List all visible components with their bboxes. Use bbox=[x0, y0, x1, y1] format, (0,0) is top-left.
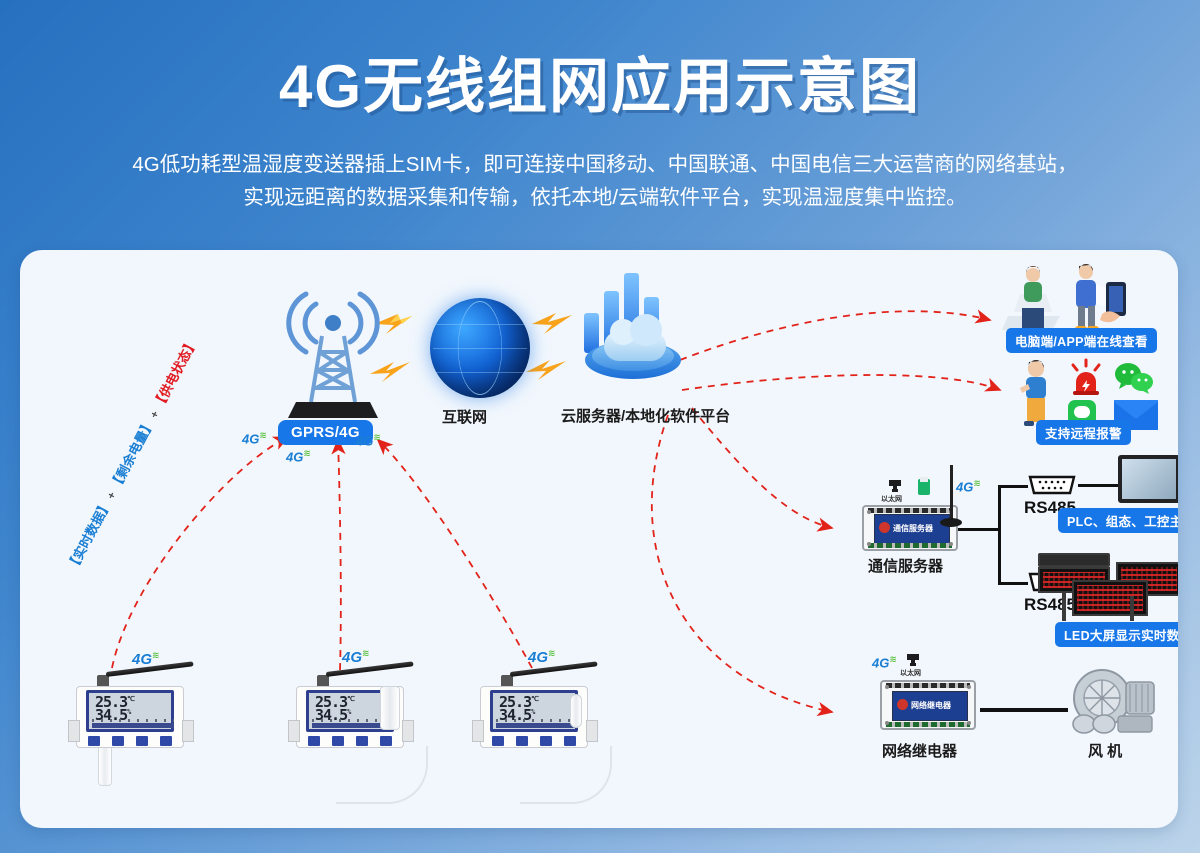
mount-wing-right-1 bbox=[182, 720, 194, 742]
ethernet-port-icon-relay bbox=[904, 652, 922, 668]
badge-led-screen[interactable]: LED大屏显示实时数据 bbox=[1055, 622, 1178, 647]
sensor-lcd-1: 25.3℃ 34.5% bbox=[86, 690, 174, 732]
bus-line-to-rs485-bottom bbox=[998, 582, 1028, 585]
radio-tag-4g-relay: 4G≋ bbox=[872, 654, 896, 670]
radio-tag-4g-tower-mid: 4G≋ bbox=[286, 448, 310, 464]
comm-server-label: 通信服务器 bbox=[868, 555, 943, 576]
network-relay-device[interactable]: 网络继电器 bbox=[880, 680, 976, 730]
ethernet-label-relay: 以太网 bbox=[900, 668, 921, 678]
mount-wing-left-1 bbox=[68, 720, 80, 742]
badge-remote-alarm[interactable]: 支持远程报警 bbox=[1036, 420, 1131, 445]
diagram-stage: GPRS/4G 4G≋ 4G≋ 4G≋ 互联网 云服务器/本地化软件平台 bbox=[20, 250, 1178, 828]
sim-card-icon-comm bbox=[916, 476, 932, 496]
led-post-right bbox=[1130, 596, 1134, 621]
radio-tag-4g-comm: 4G≋ bbox=[956, 478, 980, 494]
relay-terminal-top bbox=[886, 683, 970, 688]
annot-part-1: 【实时数据】 bbox=[64, 498, 114, 574]
antenna-mast-comm bbox=[950, 465, 953, 521]
radio-tag-4g-tower-left: 4G≋ bbox=[242, 430, 266, 446]
rs485-connector-top-icon bbox=[1026, 474, 1078, 496]
data-payload-annotation: 【实时数据】 + 【剩余电量】 + 【供电状态】 bbox=[62, 334, 202, 574]
internet-label: 互联网 bbox=[442, 406, 487, 427]
fan-label: 风 机 bbox=[1088, 740, 1122, 761]
relay-screen-title: 网络继电器 bbox=[911, 700, 951, 711]
alarm-lamp-icon bbox=[1068, 358, 1104, 396]
comm-server-device[interactable]: 通信服务器 bbox=[862, 505, 958, 551]
subtitle-line-1: 4G低功耗型温湿度变送器插上SIM卡，即可连接中国移动、中国联通、中国电信三大运… bbox=[50, 148, 1160, 181]
sensor-external-probe-3 bbox=[570, 694, 582, 728]
sensor-probe-1 bbox=[98, 748, 112, 786]
network-relay-label: 网络继电器 bbox=[882, 740, 957, 761]
globe-icon bbox=[430, 298, 530, 398]
radio-tag-4g-sensor-2: 4G≋ bbox=[342, 648, 369, 666]
screen-logo-icon bbox=[879, 522, 890, 533]
sensor-lcd-3: 25.3℃ 34.5% bbox=[490, 690, 578, 732]
mount-wing-right-2 bbox=[402, 720, 414, 742]
ethernet-label-comm: 以太网 bbox=[881, 494, 902, 504]
radio-tag-4g-sensor-3: 4G≋ bbox=[528, 648, 555, 666]
cloud-server-label: 云服务器/本地化软件平台 bbox=[561, 405, 730, 426]
bus-line-to-rs485-top bbox=[998, 485, 1028, 488]
annot-plus-2: + bbox=[148, 409, 162, 420]
blower-fan-icon bbox=[1068, 668, 1160, 738]
bus-line-out bbox=[958, 528, 1000, 531]
relay-terminal-bottom bbox=[886, 722, 970, 727]
page-title: 4G无线组网应用示意图 bbox=[0, 38, 1200, 125]
sensor-cable-3 bbox=[520, 746, 612, 804]
screen-title: 通信服务器 bbox=[893, 523, 933, 534]
led-display-roof bbox=[1038, 553, 1110, 567]
terminal-strip-bottom bbox=[868, 543, 952, 548]
cloud-server-icon bbox=[560, 275, 690, 405]
badge-plc[interactable]: PLC、组态、工控主机 bbox=[1058, 508, 1178, 533]
diagram-panel: GPRS/4G 4G≋ 4G≋ 4G≋ 互联网 云服务器/本地化软件平台 bbox=[20, 250, 1178, 828]
bus-line-vertical bbox=[998, 485, 1001, 585]
ethernet-port-icon-comm bbox=[886, 478, 904, 494]
annot-part-3: 【供电状态】 bbox=[150, 336, 200, 412]
subtitle-line-2: 实现远距离的数据采集和传输，依托本地/云端软件平台，实现温湿度集中监控。 bbox=[50, 181, 1160, 214]
relay-screen-logo-icon bbox=[897, 699, 908, 710]
led-display-front bbox=[1072, 580, 1148, 616]
mount-wing-right-3 bbox=[586, 720, 598, 742]
led-post-left bbox=[1062, 593, 1066, 621]
wechat-icon bbox=[1114, 362, 1154, 394]
sensor-external-probe-2 bbox=[380, 686, 400, 730]
annot-plus-1: + bbox=[105, 490, 119, 501]
relay-to-fan-cable bbox=[980, 708, 1068, 712]
cell-tower-icon bbox=[278, 290, 388, 425]
sensor-cable-2 bbox=[336, 746, 428, 804]
radio-tag-4g-tower-right: 4G≋ bbox=[356, 432, 380, 448]
antenna-rod-2 bbox=[326, 661, 414, 677]
terminal-strip-top bbox=[868, 508, 952, 513]
badge-pc-app[interactable]: 电脑端/APP端在线查看 bbox=[1006, 328, 1157, 353]
sensor-buttons-1[interactable] bbox=[88, 736, 172, 748]
mount-wing-left-2 bbox=[288, 720, 300, 742]
annot-part-2: 【剩余电量】 bbox=[107, 417, 157, 493]
rs485-label-bottom: RS485 bbox=[1024, 595, 1076, 615]
relay-screen: 网络继电器 bbox=[892, 691, 968, 721]
plc-monitor-icon bbox=[1118, 455, 1178, 503]
comm-server-screen: 通信服务器 bbox=[874, 514, 950, 544]
alarm-person-illustration bbox=[1012, 358, 1060, 428]
rs485-top-cable bbox=[1078, 484, 1118, 487]
page-subtitle: 4G低功耗型温湿度变送器插上SIM卡，即可连接中国移动、中国联通、中国电信三大运… bbox=[50, 148, 1160, 214]
mount-wing-left-3 bbox=[472, 720, 484, 742]
antenna-base-comm bbox=[940, 518, 962, 527]
